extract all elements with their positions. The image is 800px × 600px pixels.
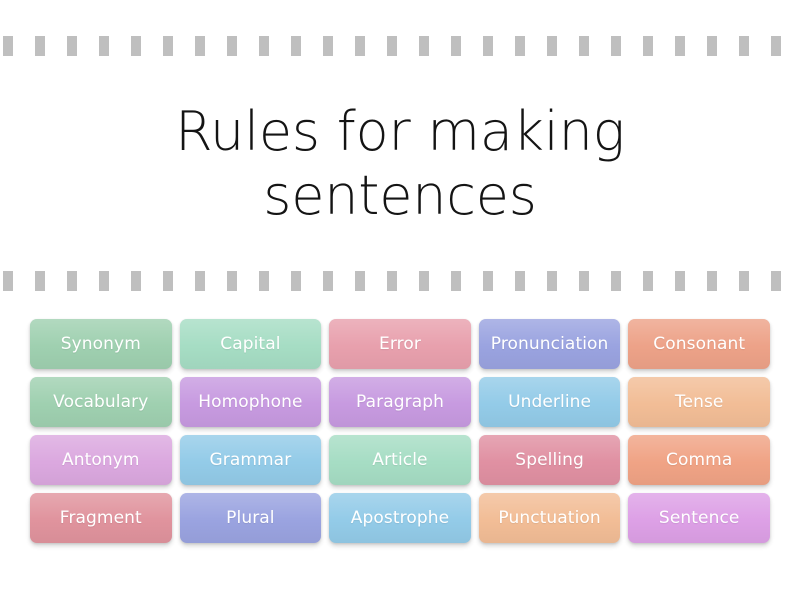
word-tile[interactable]: Antonym — [30, 435, 172, 485]
word-tile[interactable]: Sentence — [628, 493, 770, 543]
word-tile-label: Error — [379, 334, 421, 354]
activity-page: Rules for making sentences SynonymCapita… — [0, 0, 800, 600]
word-tile[interactable]: Underline — [479, 377, 621, 427]
word-tile[interactable]: Plural — [180, 493, 322, 543]
word-tile[interactable]: Paragraph — [329, 377, 471, 427]
word-tile[interactable]: Article — [329, 435, 471, 485]
tile-grid: SynonymCapitalErrorPronunciationConsonan… — [30, 319, 770, 543]
word-tile[interactable]: Pronunciation — [479, 319, 621, 369]
tile-grid-area: SynonymCapitalErrorPronunciationConsonan… — [0, 291, 800, 600]
word-tile-label: Sentence — [659, 508, 740, 528]
word-tile[interactable]: Tense — [628, 377, 770, 427]
middle-dashed-divider — [0, 271, 800, 291]
word-tile-label: Capital — [220, 334, 280, 354]
word-tile[interactable]: Error — [329, 319, 471, 369]
word-tile-label: Consonant — [653, 334, 745, 354]
word-tile-label: Fragment — [60, 508, 142, 528]
word-tile-label: Underline — [508, 392, 591, 412]
word-tile[interactable]: Capital — [180, 319, 322, 369]
word-tile-label: Synonym — [61, 334, 141, 354]
top-dashed-divider — [0, 36, 800, 56]
word-tile-label: Tense — [675, 392, 724, 412]
word-tile-label: Grammar — [209, 450, 291, 470]
page-title: Rules for making sentences — [140, 100, 660, 227]
word-tile-label: Apostrophe — [351, 508, 449, 528]
word-tile[interactable]: Synonym — [30, 319, 172, 369]
word-tile[interactable]: Punctuation — [479, 493, 621, 543]
word-tile-label: Vocabulary — [53, 392, 148, 412]
word-tile-label: Pronunciation — [491, 334, 609, 354]
word-tile[interactable]: Homophone — [180, 377, 322, 427]
word-tile[interactable]: Apostrophe — [329, 493, 471, 543]
word-tile-label: Spelling — [515, 450, 584, 470]
word-tile-label: Homophone — [198, 392, 302, 412]
word-tile[interactable]: Spelling — [479, 435, 621, 485]
word-tile[interactable]: Consonant — [628, 319, 770, 369]
word-tile-label: Punctuation — [498, 508, 600, 528]
word-tile[interactable]: Vocabulary — [30, 377, 172, 427]
title-area: Rules for making sentences — [0, 56, 800, 271]
word-tile-label: Comma — [666, 450, 732, 470]
word-tile-label: Paragraph — [356, 392, 444, 412]
word-tile[interactable]: Fragment — [30, 493, 172, 543]
word-tile[interactable]: Grammar — [180, 435, 322, 485]
word-tile-label: Article — [372, 450, 427, 470]
word-tile-label: Plural — [226, 508, 274, 528]
word-tile[interactable]: Comma — [628, 435, 770, 485]
word-tile-label: Antonym — [62, 450, 140, 470]
